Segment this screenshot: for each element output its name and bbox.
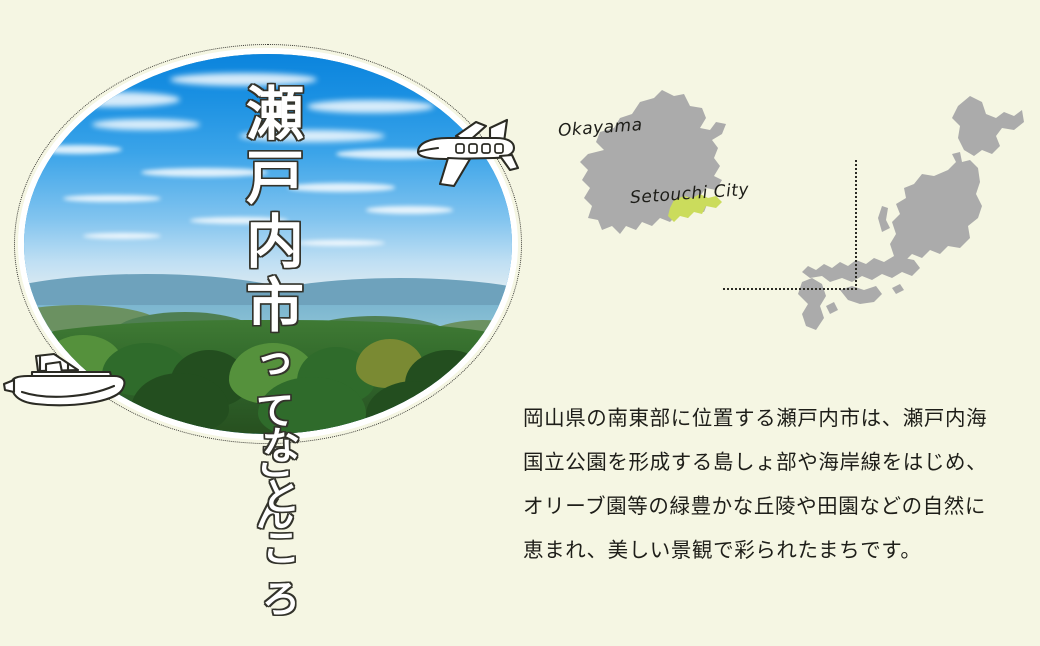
connector-line-horizontal: [723, 288, 857, 290]
airplane-icon: [404, 112, 524, 192]
title-char-11: こ: [244, 530, 318, 568]
title-char-10: と: [244, 479, 318, 517]
title-char-12: ろ: [244, 581, 318, 619]
hokkaido-shape: [952, 96, 1024, 156]
description-line-2: 国立公園を形成する島しょ部や海岸線をはじめ、: [523, 440, 1011, 484]
honshu-central-shape: [802, 256, 920, 282]
okayama-prefecture-map: [566, 84, 756, 264]
page-root: 瀬 戸 内 市 っ て こ ん な と こ ろ: [0, 0, 1040, 646]
connector-line-vertical: [855, 160, 857, 290]
description-text: 岡山県の南東部に位置する瀬戸内市は、瀬戸内海 国立公園を形成する島しょ部や海岸線…: [523, 396, 1011, 572]
hero-title-overflow: な と こ ろ: [244, 428, 318, 632]
honshu-north-shape: [890, 152, 982, 262]
japan-map: [796, 92, 1026, 342]
description-line-3: オリーブ園等の緑豊かな丘陵や田園などの自然に: [523, 484, 1011, 528]
description-line-4: 恵まれ、美しい景観で彩られたまちです。: [523, 528, 1011, 572]
kyushu-shape: [798, 278, 826, 330]
title-char-7: こ: [238, 444, 312, 482]
boat-icon: [2, 340, 132, 420]
description-line-1: 岡山県の南東部に位置する瀬戸内市は、瀬戸内海: [523, 396, 1011, 440]
title-char-8: ん: [238, 495, 312, 533]
okayama-shape: [580, 90, 726, 234]
noto-peninsula-shape: [878, 206, 890, 232]
